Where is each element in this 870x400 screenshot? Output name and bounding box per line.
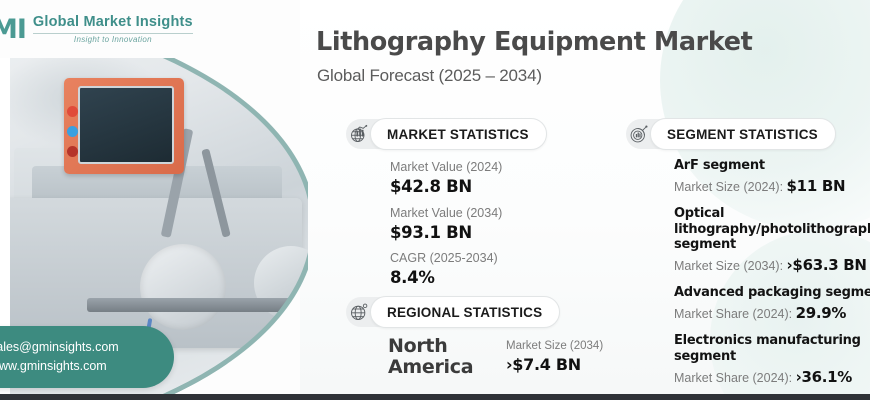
- logo-tagline: Insight to Innovation: [33, 36, 193, 44]
- segment-name: Advanced packaging segment: [674, 285, 870, 301]
- segment-item: Electronics manufacturing segment Market…: [674, 333, 870, 388]
- segment-metric-value: $11 BN: [787, 177, 846, 195]
- regional-statistics-header: REGIONAL STATISTICS: [346, 297, 560, 327]
- regional-statistics-body: North America Market Size (2034) ›$7.4 B…: [388, 336, 603, 379]
- logo-divider: [33, 33, 193, 34]
- market-stat-label: CAGR (2025-2034): [390, 249, 590, 267]
- contact-website[interactable]: www.gminsights.com: [0, 357, 174, 376]
- segment-statistics-header: SEGMENT STATISTICS: [626, 119, 836, 149]
- page-title: Lithography Equipment Market: [316, 27, 856, 57]
- segment-metric-value: ›36.1%: [796, 368, 852, 386]
- segment-item: ArF segment Market Size (2024): $11 BN: [674, 158, 870, 197]
- market-statistics-list: Market Value (2024) $42.8 BN Market Valu…: [390, 158, 590, 295]
- segment-name: Electronics manufacturing segment: [674, 333, 870, 364]
- segment-metric-value: 29.9%: [796, 304, 847, 322]
- segment-item: Optical lithography/photolithography seg…: [674, 206, 870, 276]
- segment-name: ArF segment: [674, 158, 870, 174]
- market-stat-label: Market Value (2034): [390, 204, 590, 222]
- segment-metric-label: Market Share (2024):: [674, 371, 796, 385]
- logo-company-name: Global Market Insights: [33, 15, 193, 30]
- segment-item: Advanced packaging segment Market Share …: [674, 285, 870, 324]
- market-stat-label: Market Value (2024): [390, 158, 590, 176]
- segment-statistics-label: SEGMENT STATISTICS: [650, 118, 836, 150]
- segment-statistics-list: ArF segment Market Size (2024): $11 BN O…: [674, 158, 870, 397]
- segment-metric: Market Size (2034): ›$63.3 BN: [674, 254, 870, 277]
- page-subtitle: Global Forecast (2025 – 2034): [317, 66, 857, 86]
- region-metric-label: Market Size (2034): [506, 338, 603, 355]
- logo-mark: MI: [0, 14, 26, 45]
- market-stat-value: $93.1 BN: [390, 222, 590, 243]
- infographic-canvas: MI Global Market Insights Insight to Inn…: [0, 0, 870, 400]
- region-name: North America: [388, 336, 484, 379]
- market-statistics-label: MARKET STATISTICS: [370, 118, 547, 150]
- market-stat-value: $42.8 BN: [390, 176, 590, 197]
- market-stat-row: Market Value (2034) $93.1 BN: [390, 204, 590, 244]
- market-stat-value: 8.4%: [390, 267, 590, 288]
- bottom-bar: [0, 394, 870, 400]
- segment-metric: Market Share (2024): 29.9%: [674, 302, 870, 325]
- segment-metric-value: ›$63.3 BN: [787, 256, 867, 274]
- segment-metric-label: Market Size (2024):: [674, 180, 787, 194]
- contact-badge[interactable]: sales@gminsights.com www.gminsights.com: [0, 326, 174, 388]
- segment-metric: Market Share (2024): ›36.1%: [674, 366, 870, 389]
- segment-metric: Market Size (2024): $11 BN: [674, 175, 870, 198]
- market-statistics-header: MARKET STATISTICS: [346, 119, 547, 149]
- market-stat-row: Market Value (2024) $42.8 BN: [390, 158, 590, 198]
- brand-logo[interactable]: MI Global Market Insights Insight to Inn…: [0, 14, 193, 45]
- region-metric-value: ›$7.4 BN: [506, 355, 603, 375]
- market-stat-row: CAGR (2025-2034) 8.4%: [390, 249, 590, 289]
- segment-metric-label: Market Share (2024):: [674, 307, 796, 321]
- regional-statistics-label: REGIONAL STATISTICS: [370, 296, 560, 328]
- segment-metric-label: Market Size (2034):: [674, 259, 787, 273]
- segment-name: Optical lithography/photolithography seg…: [674, 206, 870, 253]
- contact-email[interactable]: sales@gminsights.com: [0, 338, 174, 357]
